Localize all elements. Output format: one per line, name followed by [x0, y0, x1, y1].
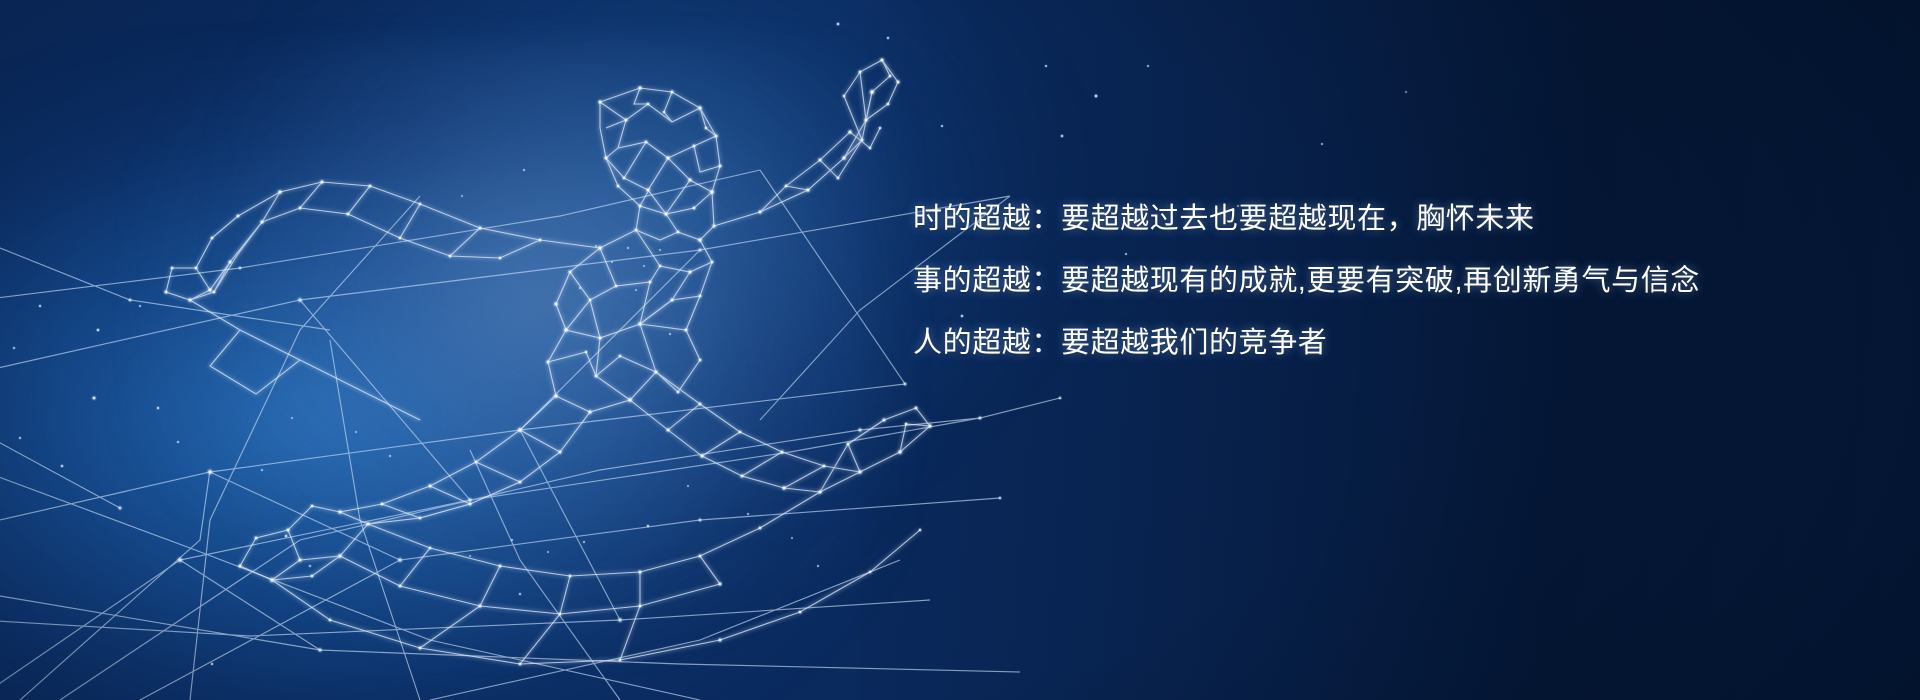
tagline-time: 时的超越：要超越过去也要超越现在，胸怀未来 — [913, 188, 1813, 250]
tagline-matter: 事的超越：要超越现有的成就,更要有突破,再创新勇气与信念 — [913, 250, 1813, 312]
hero-banner: 时的超越：要超越过去也要超越现在，胸怀未来 事的超越：要超越现有的成就,更要有突… — [0, 0, 1920, 700]
tagline-block: 时的超越：要超越过去也要超越现在，胸怀未来 事的超越：要超越现有的成就,更要有突… — [913, 188, 1813, 374]
tagline-people: 人的超越：要超越我们的竞争者 — [913, 312, 1813, 374]
